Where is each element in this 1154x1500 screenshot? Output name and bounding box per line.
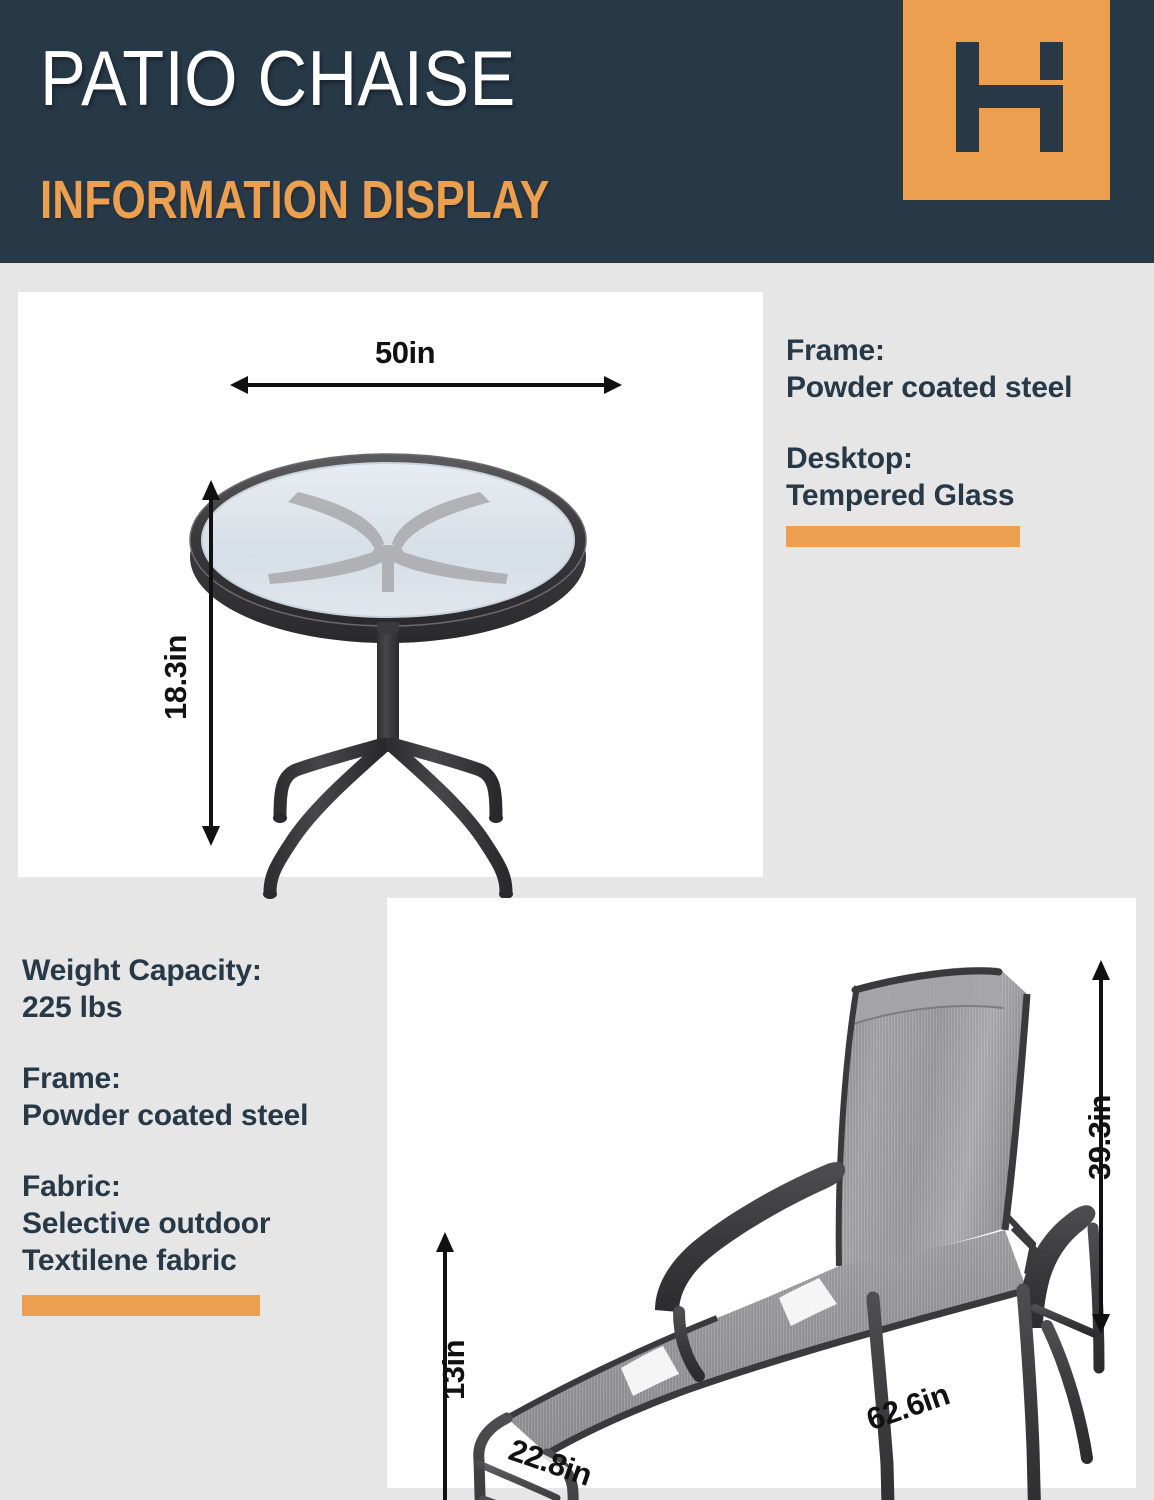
chaise-seat: [507, 1230, 1027, 1454]
table-image-panel: [18, 292, 763, 877]
table-height-label: 18.3in: [158, 635, 194, 720]
chaise-seat-height-label: 13in: [436, 1340, 472, 1400]
table-width-label: 50in: [375, 335, 435, 371]
chaise-image-panel: [387, 898, 1136, 1488]
brand-logo: [903, 0, 1110, 200]
chaise-specs: Weight Capacity: 225 lbs Frame: Powder c…: [22, 952, 372, 1316]
spec-frame: Frame: Powder coated steel: [22, 1060, 372, 1134]
spec-value: 225 lbs: [22, 989, 372, 1026]
spec-value: Selective outdoor Textilene fabric: [22, 1205, 372, 1279]
table-top: [190, 454, 586, 643]
accent-bar: [786, 526, 1020, 547]
page-subtitle: INFORMATION DISPLAY: [40, 172, 549, 228]
chaise-diagram: [387, 898, 1136, 1488]
spec-weight-capacity: Weight Capacity: 225 lbs: [22, 952, 372, 1026]
spec-value: Powder coated steel: [786, 369, 1136, 406]
spec-value: Powder coated steel: [22, 1097, 372, 1134]
accent-bar: [22, 1295, 260, 1316]
chaise-height-label: 39.3in: [1082, 1095, 1118, 1180]
spec-frame: Frame: Powder coated steel: [786, 332, 1136, 406]
table-height-arrow: [196, 480, 226, 848]
table-width-arrow: [230, 370, 630, 400]
spec-label: Weight Capacity:: [22, 952, 372, 989]
table-legs: [270, 744, 506, 892]
spec-label: Frame:: [786, 332, 1136, 369]
logo-h-icon: [903, 0, 1110, 200]
spec-value: Tempered Glass: [786, 477, 1136, 514]
page-header: PATIO CHAISE INFORMATION DISPLAY: [0, 0, 1154, 263]
spec-fabric: Fabric: Selective outdoor Textilene fabr…: [22, 1168, 372, 1316]
spec-label: Frame:: [22, 1060, 372, 1097]
spec-desktop: Desktop: Tempered Glass: [786, 440, 1136, 547]
spec-label: Desktop:: [786, 440, 1136, 477]
table-center-column: [377, 622, 399, 752]
table-specs: Frame: Powder coated steel Desktop: Temp…: [786, 332, 1136, 547]
spec-label: Fabric:: [22, 1168, 372, 1205]
chaise-backrest: [839, 967, 1027, 1266]
page-title: PATIO CHAISE: [40, 38, 516, 118]
